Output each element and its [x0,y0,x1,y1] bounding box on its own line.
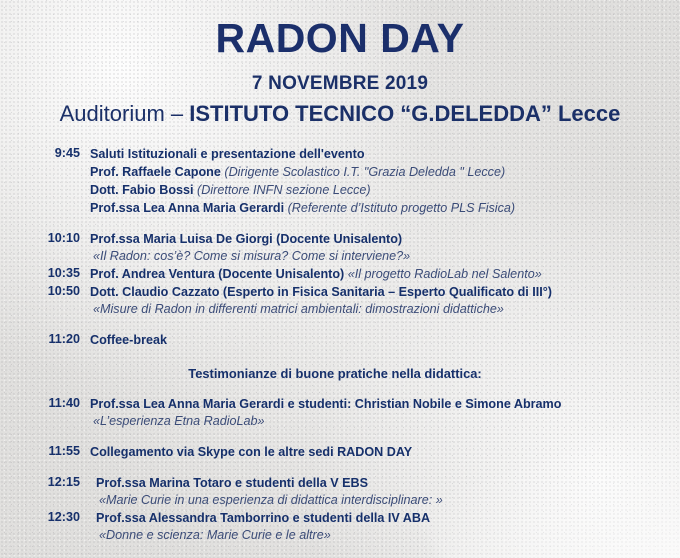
schedule-line: Dott. Fabio Bossi (Direttore INFN sezion… [90,181,670,199]
talk-subtitle: «L’esperienza Etna RadioLab» [90,413,670,430]
speaker-name: Dott. Claudio Cazzato (Esperto in Fisica… [90,285,552,299]
session-label: Collegamento via Skype con le altre sedi… [90,445,412,459]
event-venue: Auditorium – ISTITUTO TECNICO “G.DELEDDA… [0,95,680,127]
schedule-body: Saluti Istituzionali e presentazione del… [80,145,670,217]
schedule-line: Prof.ssa Marina Totaro e studenti della … [96,474,670,492]
schedule-line: Prof.ssa Lea Anna Maria Gerardi (Referen… [90,199,670,217]
schedule-line: Prof. Andrea Ventura (Docente Unisalento… [90,265,670,283]
poster-content: RADON DAY 7 NOVEMBRE 2019 Auditorium – I… [0,0,680,544]
speaker-name: Prof. Raffaele Capone [90,165,224,179]
schedule-row: 11:55 Collegamento via Skype con le altr… [18,443,670,461]
event-date: 7 NOVEMBRE 2019 [0,59,680,95]
schedule-row: 12:30 Prof.ssa Alessandra Tamborrino e s… [18,509,670,544]
schedule-list: 9:45 Saluti Istituzionali e presentazion… [0,145,680,544]
speaker-name: Saluti Istituzionali e presentazione del… [90,147,365,161]
schedule-body: Prof.ssa Maria Luisa De Giorgi (Docente … [80,230,670,265]
talk-subtitle: «Marie Curie in una esperienza di didatt… [96,492,670,509]
speaker-name: Dott. Fabio Bossi [90,183,197,197]
schedule-time: 10:50 [18,283,80,300]
schedule-line: Prof.ssa Maria Luisa De Giorgi (Docente … [90,230,670,248]
speaker-role: (Direttore INFN sezione Lecce) [197,183,371,197]
venue-prefix: Auditorium – [60,101,190,126]
schedule-row: 11:40 Prof.ssa Lea Anna Maria Gerardi e … [18,395,670,430]
speaker-name: Prof.ssa Marina Totaro e studenti della … [96,476,368,490]
schedule-line: Collegamento via Skype con le altre sedi… [90,443,670,461]
schedule-row: 12:15 Prof.ssa Marina Totaro e studenti … [18,474,670,509]
schedule-body: Collegamento via Skype con le altre sedi… [80,443,670,461]
schedule-row: 11:20 Coffee-break [18,331,670,349]
schedule-time: 10:10 [18,230,80,247]
schedule-line: Saluti Istituzionali e presentazione del… [90,145,670,163]
schedule-body: Prof.ssa Lea Anna Maria Gerardi e studen… [80,395,670,430]
radon-day-poster: RADON DAY 7 NOVEMBRE 2019 Auditorium – I… [0,0,680,558]
schedule-line: Prof. Raffaele Capone (Dirigente Scolast… [90,163,670,181]
schedule-line: Coffee-break [90,331,670,349]
schedule-row: 10:50 Dott. Claudio Cazzato (Esperto in … [18,283,670,318]
schedule-row: 9:45 Saluti Istituzionali e presentazion… [18,145,670,217]
speaker-name: Prof.ssa Alessandra Tamborrino e student… [96,511,430,525]
schedule-time: 11:40 [18,395,80,412]
schedule-line: Prof.ssa Alessandra Tamborrino e student… [96,509,670,527]
schedule-body: Prof. Andrea Ventura (Docente Unisalento… [80,265,670,283]
schedule-row: 10:35 Prof. Andrea Ventura (Docente Unis… [18,265,670,283]
schedule-time: 12:15 [18,474,80,491]
speaker-role: (Dirigente Scolastico I.T. "Grazia Deled… [224,165,505,179]
schedule-time: 12:30 [18,509,80,526]
talk-subtitle: «Il progetto RadioLab nel Salento» [348,267,542,281]
speaker-name: Prof.ssa Lea Anna Maria Gerardi [90,201,288,215]
schedule-time: 10:35 [18,265,80,282]
schedule-line: Dott. Claudio Cazzato (Esperto in Fisica… [90,283,670,301]
break-label: Coffee-break [90,333,167,347]
venue-institute: ISTITUTO TECNICO “G.DELEDDA” Lecce [189,101,620,126]
speaker-name: Prof.ssa Maria Luisa De Giorgi (Docente … [90,232,402,246]
speaker-name: Prof.ssa Lea Anna Maria Gerardi e studen… [90,397,561,411]
section-heading: Testimonianze di buone pratiche nella di… [18,365,652,382]
speaker-role: (Referente d’Istituto progetto PLS Fisic… [288,201,516,215]
schedule-row: 10:10 Prof.ssa Maria Luisa De Giorgi (Do… [18,230,670,265]
talk-subtitle: «Il Radon: cos’è? Come si misura? Come s… [90,248,670,265]
talk-subtitle: «Misure di Radon in differenti matrici a… [90,301,670,318]
schedule-time: 11:55 [18,443,80,460]
schedule-body: Coffee-break [80,331,670,349]
schedule-body: Prof.ssa Marina Totaro e studenti della … [80,474,670,509]
schedule-line: Prof.ssa Lea Anna Maria Gerardi e studen… [90,395,670,413]
schedule-body: Prof.ssa Alessandra Tamborrino e student… [80,509,670,544]
schedule-body: Dott. Claudio Cazzato (Esperto in Fisica… [80,283,670,318]
talk-subtitle: «Donne e scienza: Marie Curie e le altre… [96,527,670,544]
schedule-time: 9:45 [18,145,80,162]
speaker-name: Prof. Andrea Ventura (Docente Unisalento… [90,267,348,281]
page-title: RADON DAY [0,0,680,59]
schedule-time: 11:20 [18,331,80,348]
